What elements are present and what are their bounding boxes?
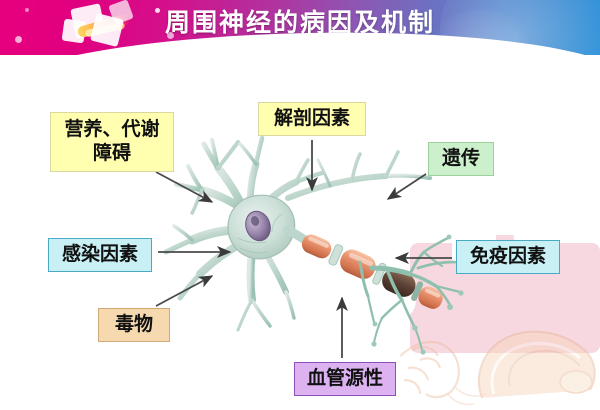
arrow-toxin (156, 276, 212, 306)
label-vasculogenic[interactable]: 血管源性 (294, 362, 396, 396)
label-toxin[interactable]: 毒物 (98, 308, 170, 342)
title-banner: 周围神经的病因及机制 (0, 0, 600, 55)
watermark-anatomy-illustration (390, 290, 600, 410)
label-nutrition-metabolic-disorder[interactable]: 营养、代谢 障碍 (50, 112, 174, 172)
arrow-nutrition (156, 172, 212, 202)
label-infection-factor[interactable]: 感染因素 (48, 238, 152, 272)
label-anatomical-factor[interactable]: 解剖因素 (258, 102, 366, 136)
label-heredity[interactable]: 遗传 (428, 142, 494, 176)
arrow-heredity (388, 174, 426, 199)
label-immune-factor[interactable]: 免疫因素 (456, 240, 560, 274)
slide-canvas: 营养、代谢 障碍 解剖因素 遗传 感染因素 免疫因素 毒物 血管源性 周围神经的… (0, 0, 600, 410)
